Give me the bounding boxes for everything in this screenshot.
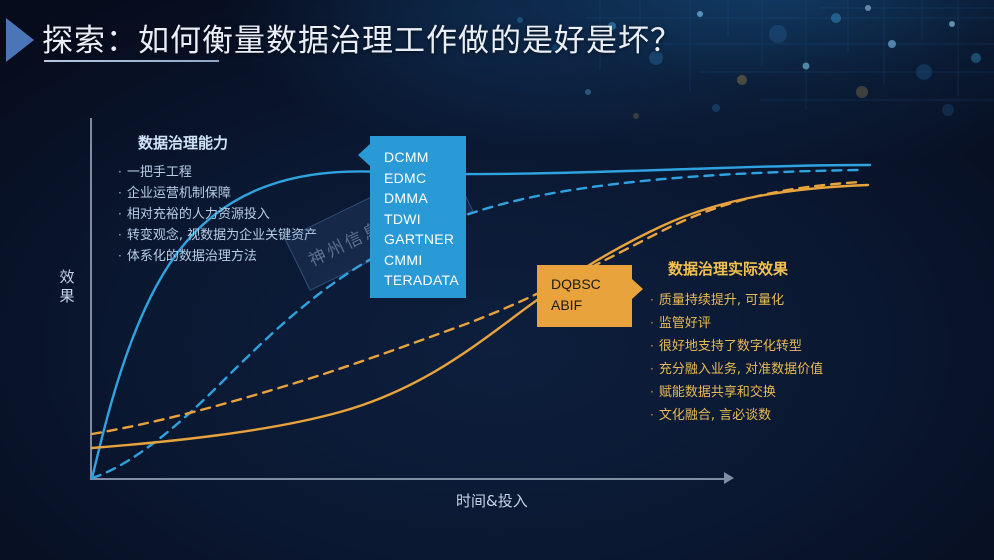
slide-header: 探索：如何衡量数据治理工作做的是好是坏？ bbox=[0, 0, 994, 80]
list-item-label: 很好地支持了数字化转型 bbox=[659, 339, 802, 354]
title-underline bbox=[44, 60, 219, 62]
list-item-label: 企业运营机制保障 bbox=[127, 186, 231, 201]
left-block-title: 数据治理能力 bbox=[138, 132, 368, 153]
list-item: ·企业运营机制保障 bbox=[118, 183, 368, 204]
standards-tag-blue: DCMM EDMC DMMA TDWI GARTNER CMMI TERADAT… bbox=[370, 136, 466, 298]
y-axis-label: 效果 bbox=[56, 268, 78, 306]
list-item-label: 体系化的数据治理方法 bbox=[127, 249, 257, 264]
list-item-label: 文化融合, 言必谈数 bbox=[659, 408, 771, 423]
tag-pointer-icon bbox=[358, 144, 370, 166]
page-title: 探索：如何衡量数据治理工作做的是好是坏？ bbox=[42, 15, 682, 60]
x-axis bbox=[90, 478, 726, 480]
bullet-icon: · bbox=[650, 293, 654, 307]
bullet-icon: · bbox=[650, 408, 654, 422]
x-axis-arrow-icon bbox=[724, 472, 734, 484]
list-item: ·质量持续提升, 可量化 bbox=[650, 289, 920, 312]
list-item-label: 相对充裕的人力资源投入 bbox=[127, 207, 270, 222]
list-item: TDWI bbox=[384, 209, 466, 230]
bullet-icon: · bbox=[650, 385, 654, 399]
list-item: ·监管好评 bbox=[650, 312, 920, 335]
bullet-icon: · bbox=[650, 316, 654, 330]
bullet-icon: · bbox=[118, 249, 122, 263]
list-item-label: 质量持续提升, 可量化 bbox=[659, 293, 784, 308]
list-item: DQBSC bbox=[551, 274, 632, 295]
slide: 探索：如何衡量数据治理工作做的是好是坏？ 效果 时间&投入 数据治理能力 ·一把… bbox=[0, 0, 994, 560]
list-item: DMMA bbox=[384, 188, 466, 209]
list-item: ABIF bbox=[551, 295, 632, 316]
list-item-label: 转变观念, 视数据为企业关键资产 bbox=[127, 228, 317, 243]
list-item-label: 赋能数据共享和交换 bbox=[659, 385, 776, 400]
bullet-icon: · bbox=[118, 186, 122, 200]
standards-list: DCMM EDMC DMMA TDWI GARTNER CMMI TERADAT… bbox=[370, 136, 466, 291]
bullet-icon: · bbox=[650, 362, 654, 376]
list-item: EDMC bbox=[384, 168, 466, 189]
tag-pointer-icon bbox=[632, 279, 643, 299]
list-item: ·转变观念, 视数据为企业关键资产 bbox=[118, 225, 368, 246]
list-item: ·体系化的数据治理方法 bbox=[118, 246, 368, 267]
right-text-block: 数据治理实际效果 ·质量持续提升, 可量化 ·监管好评 ·很好地支持了数字化转型… bbox=[650, 258, 920, 427]
bullet-icon: · bbox=[118, 207, 122, 221]
list-item-label: 监管好评 bbox=[659, 316, 711, 331]
methods-list: DQBSC ABIF bbox=[537, 265, 632, 316]
list-item: CMMI bbox=[384, 250, 466, 271]
methods-tag-orange: DQBSC ABIF bbox=[537, 265, 632, 327]
bullet-icon: · bbox=[118, 165, 122, 179]
list-item: ·一把手工程 bbox=[118, 162, 368, 183]
x-axis-label: 时间&投入 bbox=[456, 490, 528, 511]
list-item: ·很好地支持了数字化转型 bbox=[650, 335, 920, 358]
list-item: ·赋能数据共享和交换 bbox=[650, 381, 920, 404]
list-item: TERADATA bbox=[384, 270, 466, 291]
bullet-icon: · bbox=[118, 228, 122, 242]
list-item-label: 一把手工程 bbox=[127, 165, 192, 180]
right-block-title: 数据治理实际效果 bbox=[668, 258, 920, 279]
list-item: GARTNER bbox=[384, 229, 466, 250]
list-item: DCMM bbox=[384, 147, 466, 168]
triangle-right-icon bbox=[6, 18, 34, 62]
list-item: ·充分融入业务, 对准数据价值 bbox=[650, 358, 920, 381]
list-item-label: 充分融入业务, 对准数据价值 bbox=[659, 362, 823, 377]
list-item: ·相对充裕的人力资源投入 bbox=[118, 204, 368, 225]
bullet-icon: · bbox=[650, 339, 654, 353]
y-axis bbox=[90, 118, 92, 480]
list-item: ·文化融合, 言必谈数 bbox=[650, 404, 920, 427]
slide-footer: 让数据资产发挥价值 DCITS 神州信息 bbox=[0, 514, 994, 560]
left-text-block: 数据治理能力 ·一把手工程 ·企业运营机制保障 ·相对充裕的人力资源投入 ·转变… bbox=[118, 132, 368, 267]
